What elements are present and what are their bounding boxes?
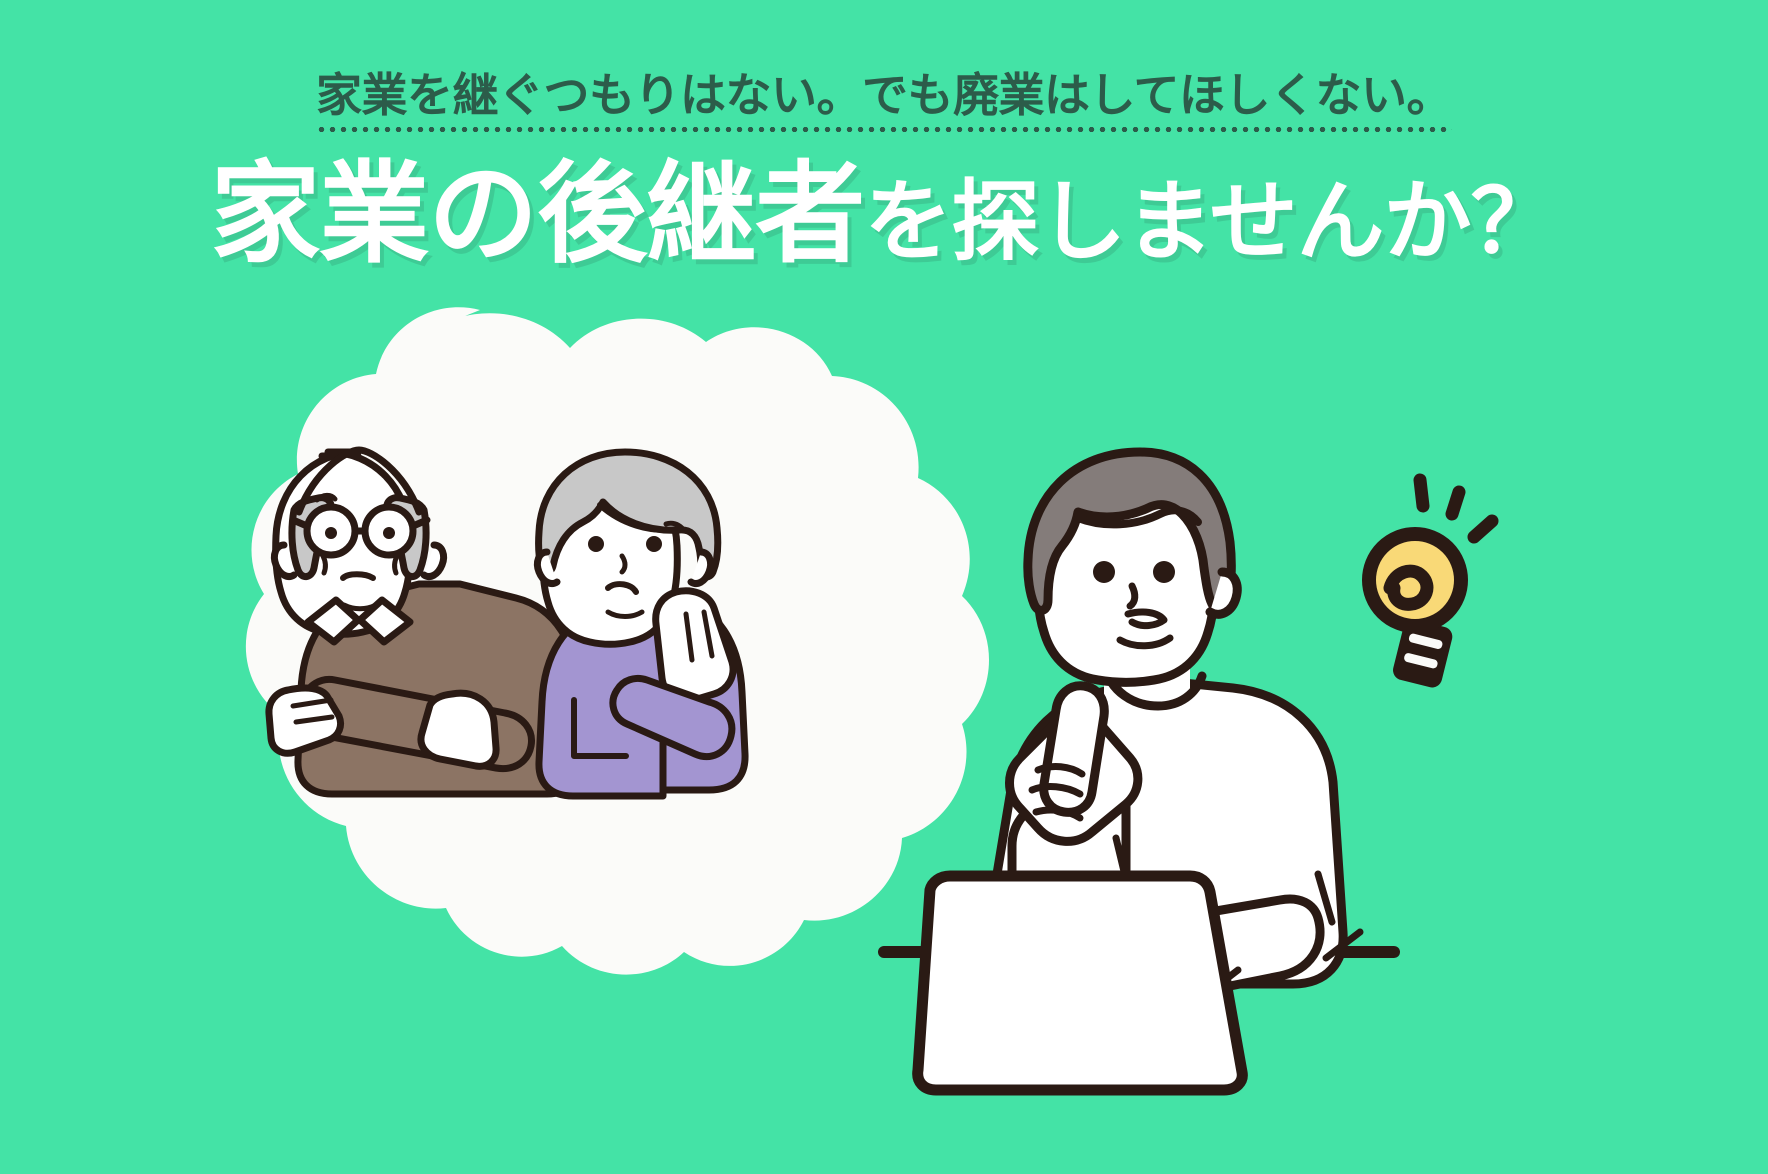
- thought-bubble-trail-small: [899, 734, 931, 758]
- page-title: 家業の後継者を探しませんか？: [0, 160, 1768, 270]
- title-segment-secondary: を探しませんか？: [864, 172, 1557, 271]
- thought-bubble-trail-large: [832, 706, 892, 746]
- banner-canvas: 家業を継ぐつもりはない。でも廃業はしてほしくない。 家業の後継者を探しませんか？: [0, 0, 1768, 1174]
- headline-block: 家業を継ぐつもりはない。でも廃業はしてほしくない。 家業の後継者を探しませんか？: [0, 72, 1768, 270]
- title-segment-primary: 家業の後継者: [210, 153, 864, 276]
- subtitle: 家業を継ぐつもりはない。でも廃業はしてほしくない。: [316, 72, 1452, 138]
- elderly-woman-worried: [537, 452, 745, 796]
- laptop: [918, 876, 1243, 1090]
- lightbulb-idea-icon: [1369, 480, 1492, 690]
